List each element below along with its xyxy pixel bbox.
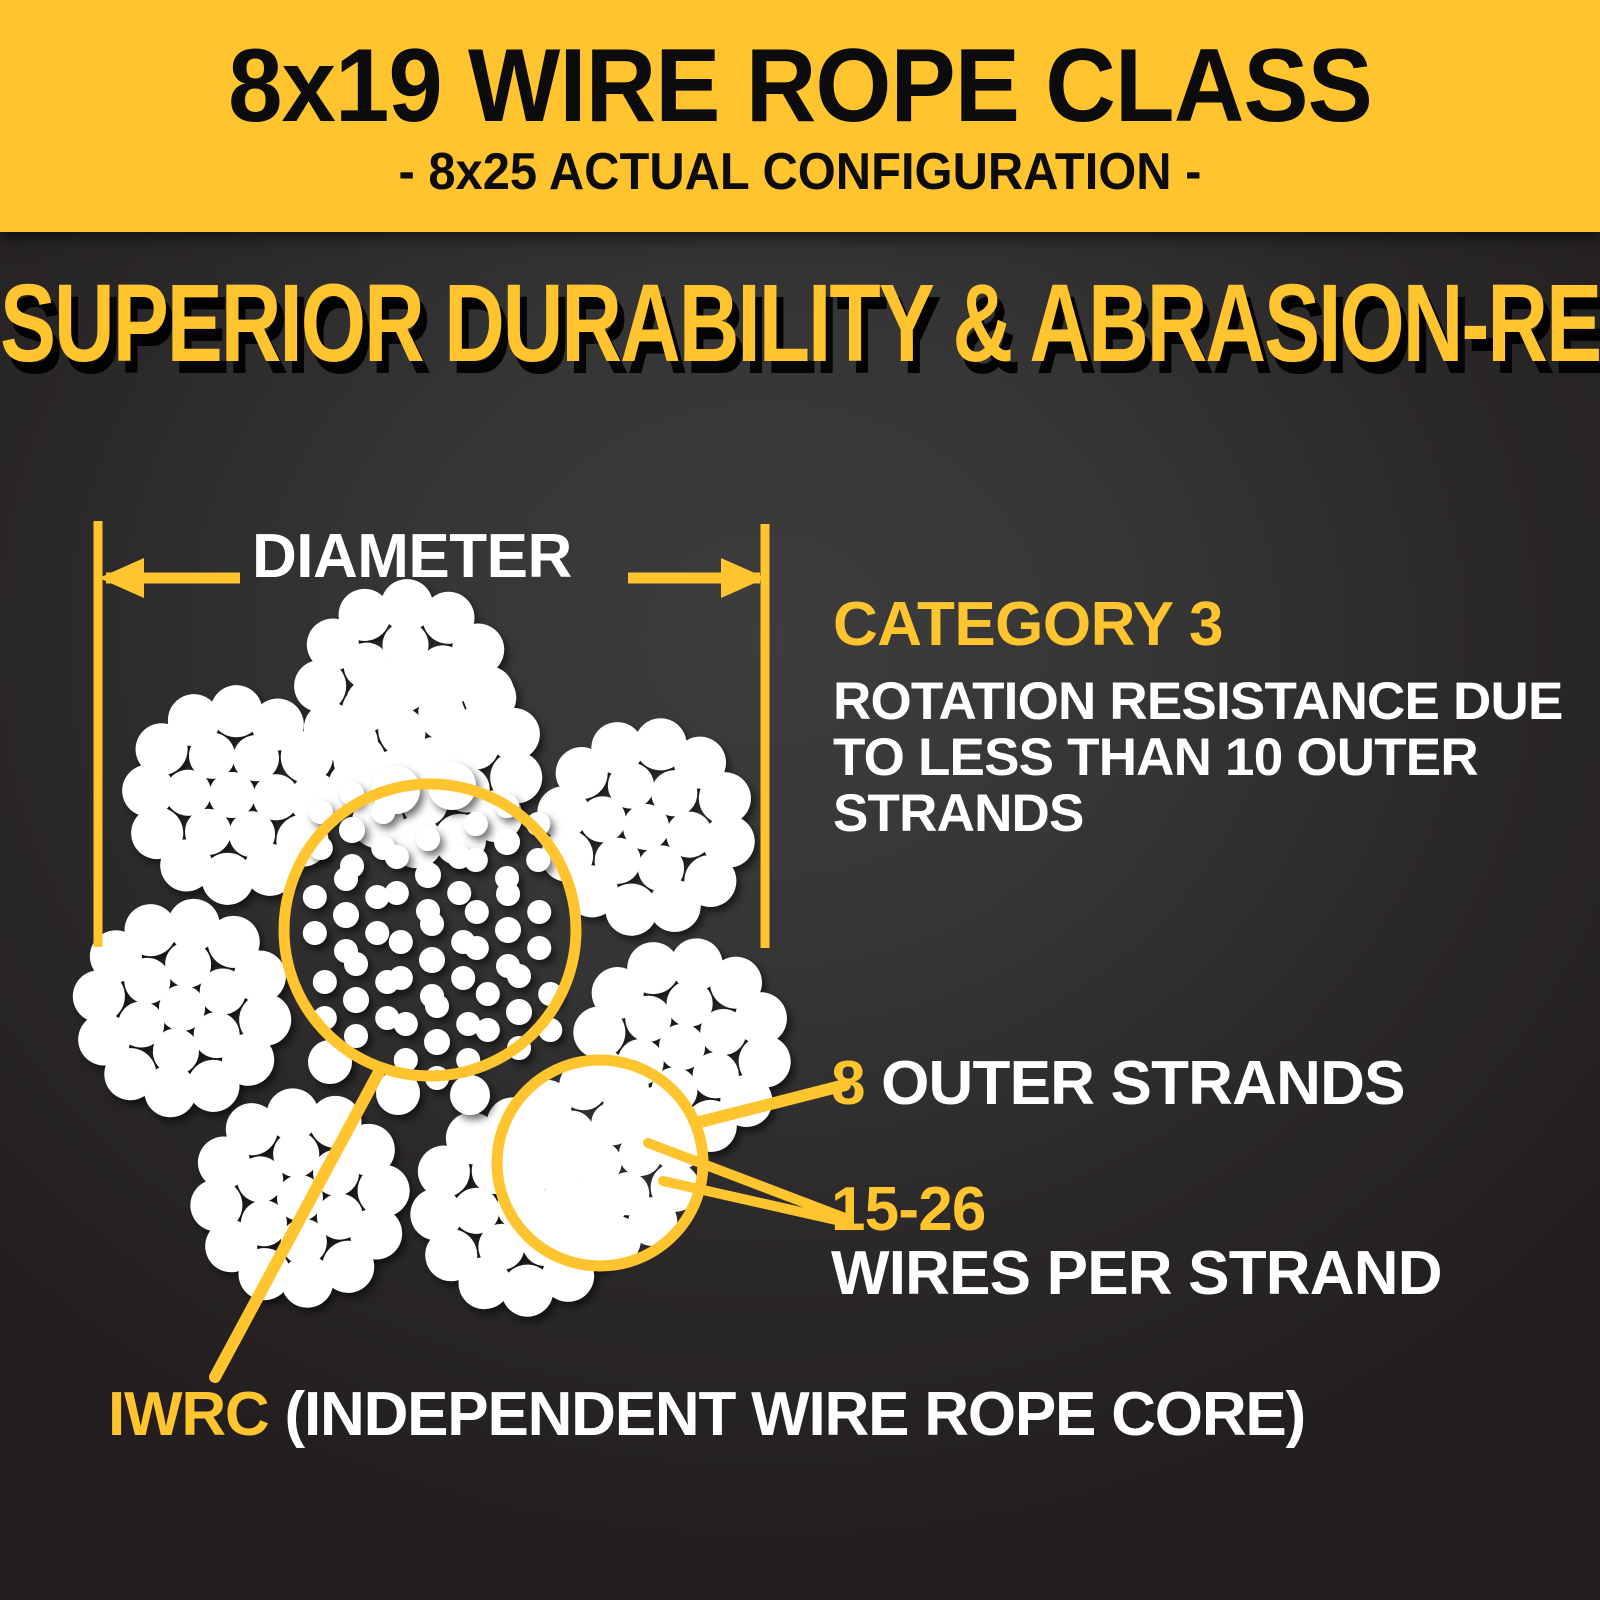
dimension-arrowhead-right [721, 558, 766, 598]
header-bar: 8x19 WIRE ROPE CLASS - 8x25 ACTUAL CONFI… [0, 0, 1600, 232]
page-subtitle: - 8x25 ACTUAL CONFIGURATION - [48, 146, 1552, 198]
infographic-poster: 8x19 WIRE ROPE CLASS - 8x25 ACTUAL CONFI… [0, 0, 1600, 1600]
category-body: ROTATION RESISTANCE DUE TO LESS THAN 10 … [833, 674, 1573, 842]
iwrc-expansion: (INDEPENDENT WIRE ROPE CORE) [285, 1380, 1305, 1449]
wires-per-strand-count: 15-26 [831, 1178, 1442, 1242]
outer-strands-callout: 8 OUTER STRANDS [831, 1053, 1405, 1115]
dimension-arrowhead-left [99, 558, 144, 598]
category-title: CATEGORY 3 [833, 594, 1223, 656]
outer-strands-group [58, 540, 823, 1353]
wires-per-strand-callout: 15-26WIRES PER STRAND [831, 1178, 1442, 1306]
iwrc-callout: IWRC (INDEPENDENT WIRE ROPE CORE) [108, 1384, 1305, 1446]
outer-strands-caption: OUTER STRANDS [881, 1049, 1405, 1118]
diameter-label: DIAMETER [252, 526, 572, 588]
outer-strands-count: 8 [831, 1049, 865, 1118]
outer-strands-text [865, 1049, 881, 1118]
page-title: 8x19 WIRE ROPE CLASS [48, 34, 1552, 138]
iwrc-spacer [269, 1380, 285, 1449]
iwrc-abbr: IWRC [108, 1380, 269, 1449]
banner-headline: SUPERIOR DURABILITY & ABRASION-RESISTANC… [0, 266, 1600, 380]
wires-per-strand-caption: WIRES PER STRAND [831, 1239, 1442, 1308]
